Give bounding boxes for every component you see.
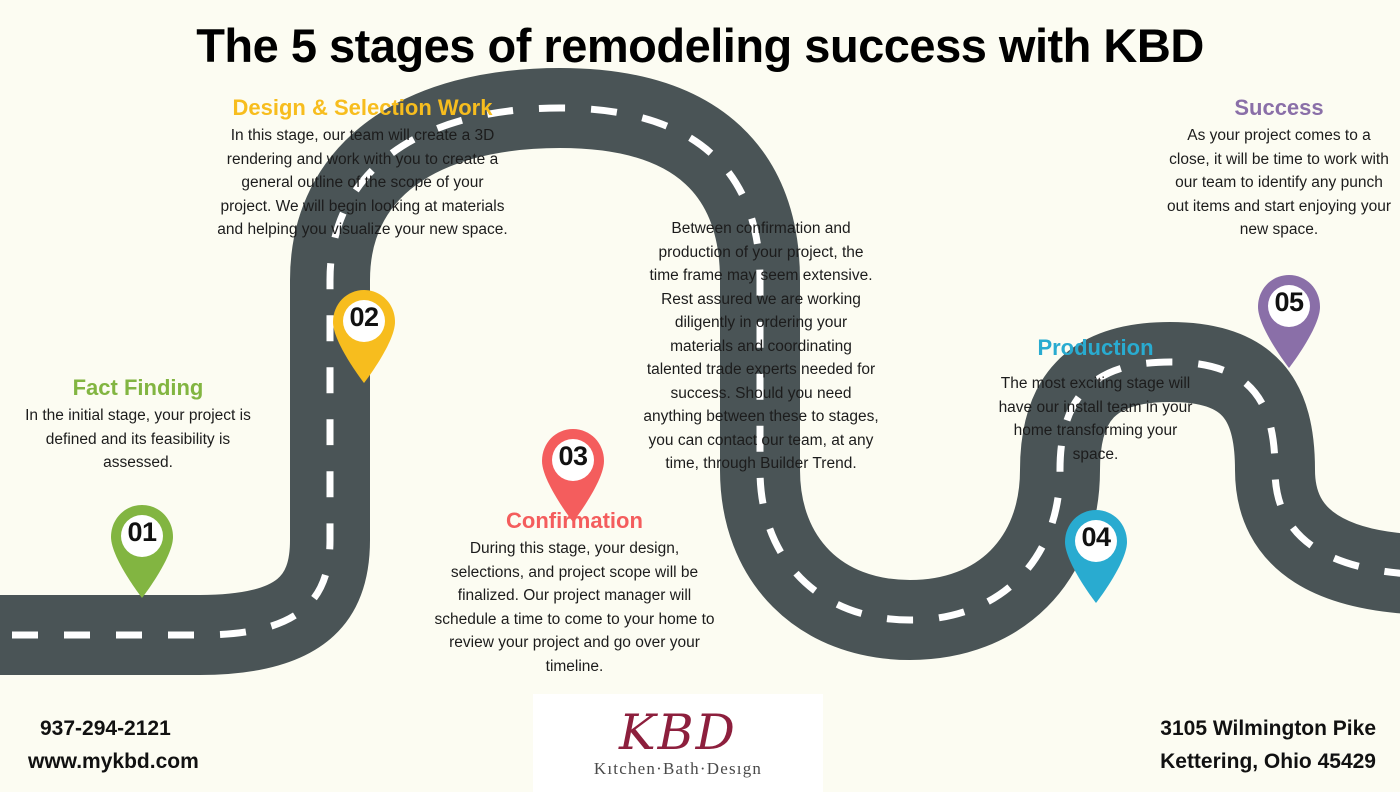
map-pin-04[interactable]: 04 (1059, 508, 1133, 604)
stage-heading-02: Design & Selection Work (215, 95, 510, 120)
map-pin-number-05: 05 (1252, 289, 1326, 316)
infographic-canvas: The 5 stages of remodeling success with … (0, 0, 1400, 792)
kbd-logo-card: KBD Kıtchen·Bаth·Desıgn (533, 694, 823, 792)
stage-body-05: As your project comes to a close, it wil… (1165, 124, 1393, 242)
map-pin-number-04: 04 (1059, 524, 1133, 551)
stage-heading-04: Production (993, 335, 1198, 360)
stage-body-03: During this stage, your design, selectio… (432, 537, 717, 678)
stage-block-fact-finding: Fact Finding In the initial stage, your … (22, 375, 254, 475)
stage-body-01: In the initial stage, your project is de… (22, 404, 254, 475)
footer-website[interactable]: www.mykbd.com (28, 746, 199, 779)
stage-block-confirmation: Confirmation During this stage, your des… (432, 508, 717, 679)
map-pin-03[interactable]: 03 (536, 427, 610, 523)
footer-phone[interactable]: 937-294-2121 (28, 713, 199, 746)
stage-heading-05: Success (1165, 95, 1393, 120)
footer-address-line2: Kettering, Ohio 45429 (1160, 746, 1376, 779)
stage-block-success: Success As your project comes to a close… (1165, 95, 1393, 242)
stage-body-02: In this stage, our team will create a 3D… (215, 124, 510, 242)
center-note-text: Between confirmation and production of y… (642, 217, 880, 476)
map-pin-05[interactable]: 05 (1252, 273, 1326, 369)
kbd-logo-mark: KBD (619, 708, 737, 757)
map-pin-01[interactable]: 01 (105, 503, 179, 599)
page-title: The 5 stages of remodeling success with … (0, 18, 1400, 73)
stage-block-production: Production The most exciting stage will … (993, 335, 1198, 466)
stage-block-design-selection-work: Design & Selection Work In this stage, o… (215, 95, 510, 242)
map-pin-number-03: 03 (536, 443, 610, 470)
stage-heading-01: Fact Finding (22, 375, 254, 400)
map-pin-02[interactable]: 02 (327, 288, 401, 384)
map-pin-number-02: 02 (327, 304, 401, 331)
footer-contact-block: 937-294-2121 www.mykbd.com (28, 713, 199, 778)
stage-body-04: The most exciting stage will have our in… (993, 372, 1198, 466)
map-pin-number-01: 01 (105, 519, 179, 546)
footer-address-block: 3105 Wilmington Pike Kettering, Ohio 454… (1160, 713, 1376, 778)
footer-address-line1: 3105 Wilmington Pike (1160, 713, 1376, 746)
kbd-logo-subtitle: Kıtchen·Bаth·Desıgn (594, 759, 762, 779)
